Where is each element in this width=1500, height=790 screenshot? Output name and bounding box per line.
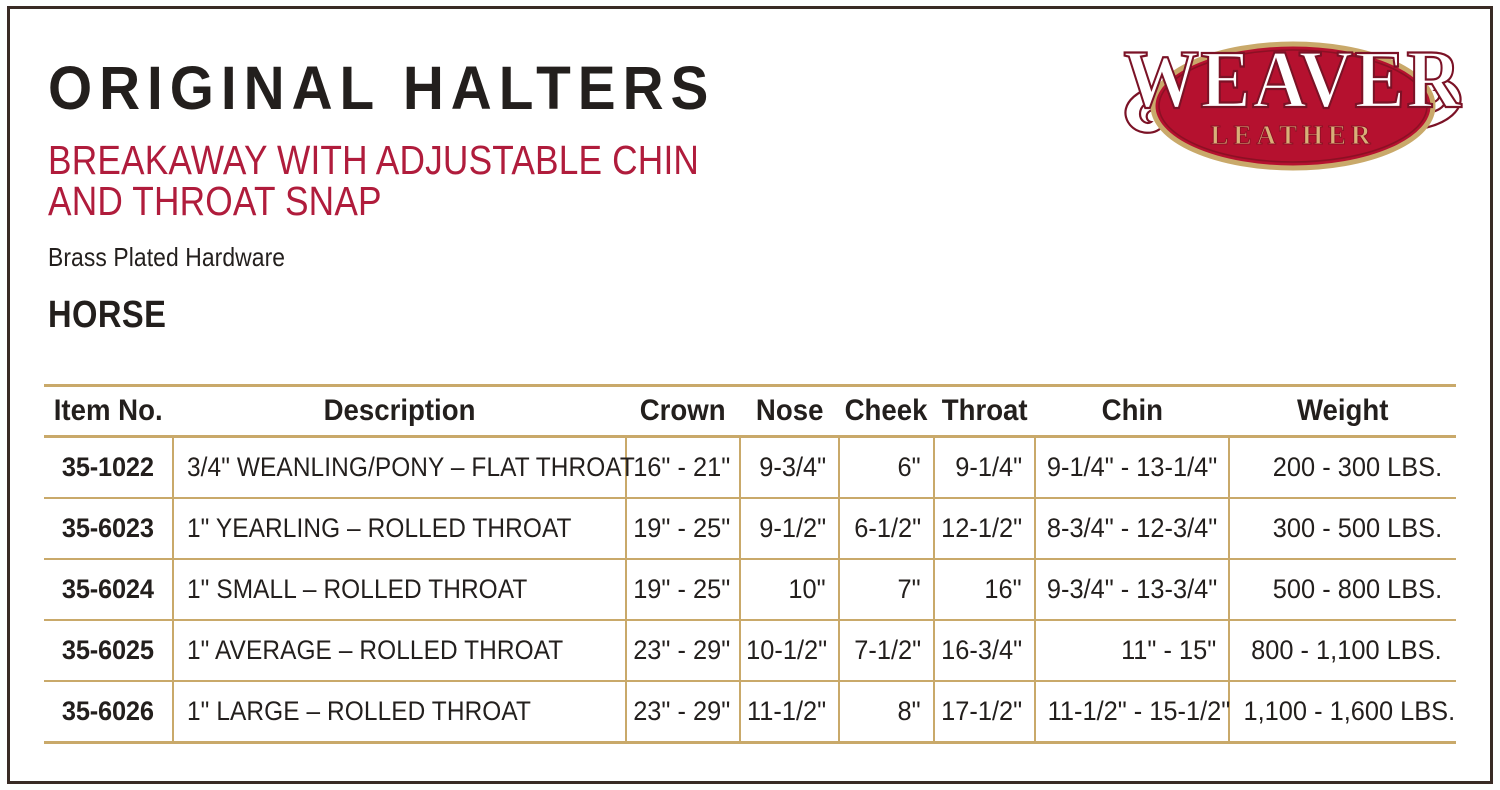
cell-item-no: 35-6024	[44, 559, 173, 620]
column-header-nose: Nose	[740, 386, 839, 437]
hardware-note: Brass Plated Hardware	[48, 242, 1291, 273]
cell-weight: 1,100 - 1,600 LBS.	[1229, 681, 1456, 743]
spec-sheet-page: ORIGINAL HALTERS BREAKAWAY WITH ADJUSTAB…	[0, 0, 1500, 790]
cell-chin: 9-1/4" - 13-1/4"	[1035, 437, 1229, 499]
cell-item-no: 35-6025	[44, 620, 173, 681]
page-subtitle: BREAKAWAY WITH ADJUSTABLE CHIN AND THROA…	[48, 140, 1262, 221]
cell-chin: 11" - 15"	[1035, 620, 1229, 681]
table-row: 35-1022 3/4" WEANLING/PONY – FLAT THROAT…	[44, 437, 1456, 499]
column-header-cheek: Cheek	[839, 386, 934, 437]
cell-crown: 16" - 21"	[626, 437, 740, 499]
cell-description: 1" LARGE – ROLLED THROAT	[173, 681, 626, 743]
cell-weight: 800 - 1,100 LBS.	[1229, 620, 1456, 681]
cell-description: 1" SMALL – ROLLED THROAT	[173, 559, 626, 620]
weaver-leather-logo: WEAVER LEATHER	[1112, 26, 1474, 184]
table-row: 35-6024 1" SMALL – ROLLED THROAT 19" - 2…	[44, 559, 1456, 620]
table-row: 35-6025 1" AVERAGE – ROLLED THROAT 23" -…	[44, 620, 1456, 681]
cell-weight: 500 - 800 LBS.	[1229, 559, 1456, 620]
cell-cheek: 7"	[839, 559, 934, 620]
cell-throat: 16"	[934, 559, 1035, 620]
spec-table-body: 35-1022 3/4" WEANLING/PONY – FLAT THROAT…	[44, 437, 1456, 743]
table-header-row: Item No. Description Crown Nose Cheek Th…	[44, 386, 1456, 437]
cell-crown: 23" - 29"	[626, 681, 740, 743]
section-heading-horse: HORSE	[48, 294, 1262, 337]
spec-table-wrapper: Item No. Description Crown Nose Cheek Th…	[44, 384, 1456, 744]
cell-nose: 9-1/2"	[740, 498, 839, 559]
cell-cheek: 6"	[839, 437, 934, 499]
table-row: 35-6026 1" LARGE – ROLLED THROAT 23" - 2…	[44, 681, 1456, 743]
cell-crown: 19" - 25"	[626, 559, 740, 620]
cell-cheek: 6-1/2"	[839, 498, 934, 559]
table-row: 35-6023 1" YEARLING – ROLLED THROAT 19" …	[44, 498, 1456, 559]
column-header-weight: Weight	[1229, 386, 1456, 437]
cell-nose: 10-1/2"	[740, 620, 839, 681]
cell-throat: 16-3/4"	[934, 620, 1035, 681]
cell-item-no: 35-6026	[44, 681, 173, 743]
cell-crown: 19" - 25"	[626, 498, 740, 559]
cell-cheek: 7-1/2"	[839, 620, 934, 681]
cell-description: 1" AVERAGE – ROLLED THROAT	[173, 620, 626, 681]
logo-sub-brand-text: LEATHER	[1210, 120, 1375, 150]
cell-chin: 9-3/4" - 13-3/4"	[1035, 559, 1229, 620]
cell-chin: 8-3/4" - 12-3/4"	[1035, 498, 1229, 559]
cell-chin: 11-1/2" - 15-1/2"	[1035, 681, 1229, 743]
cell-cheek: 8"	[839, 681, 934, 743]
column-header-chin: Chin	[1035, 386, 1229, 437]
cell-description: 3/4" WEANLING/PONY – FLAT THROAT	[173, 437, 626, 499]
cell-nose: 11-1/2"	[740, 681, 839, 743]
cell-description: 1" YEARLING – ROLLED THROAT	[173, 498, 626, 559]
cell-nose: 9-3/4"	[740, 437, 839, 499]
cell-throat: 9-1/4"	[934, 437, 1035, 499]
column-header-item-no: Item No.	[44, 386, 173, 437]
cell-nose: 10"	[740, 559, 839, 620]
cell-weight: 200 - 300 LBS.	[1229, 437, 1456, 499]
cell-throat: 12-1/2"	[934, 498, 1035, 559]
spec-table: Item No. Description Crown Nose Cheek Th…	[44, 384, 1456, 744]
cell-item-no: 35-1022	[44, 437, 173, 499]
cell-item-no: 35-6023	[44, 498, 173, 559]
cell-crown: 23" - 29"	[626, 620, 740, 681]
column-header-throat: Throat	[934, 386, 1035, 437]
cell-weight: 300 - 500 LBS.	[1229, 498, 1456, 559]
column-header-description: Description	[173, 386, 626, 437]
logo-brand-text: WEAVER	[1124, 34, 1463, 126]
column-header-crown: Crown	[626, 386, 740, 437]
cell-throat: 17-1/2"	[934, 681, 1035, 743]
